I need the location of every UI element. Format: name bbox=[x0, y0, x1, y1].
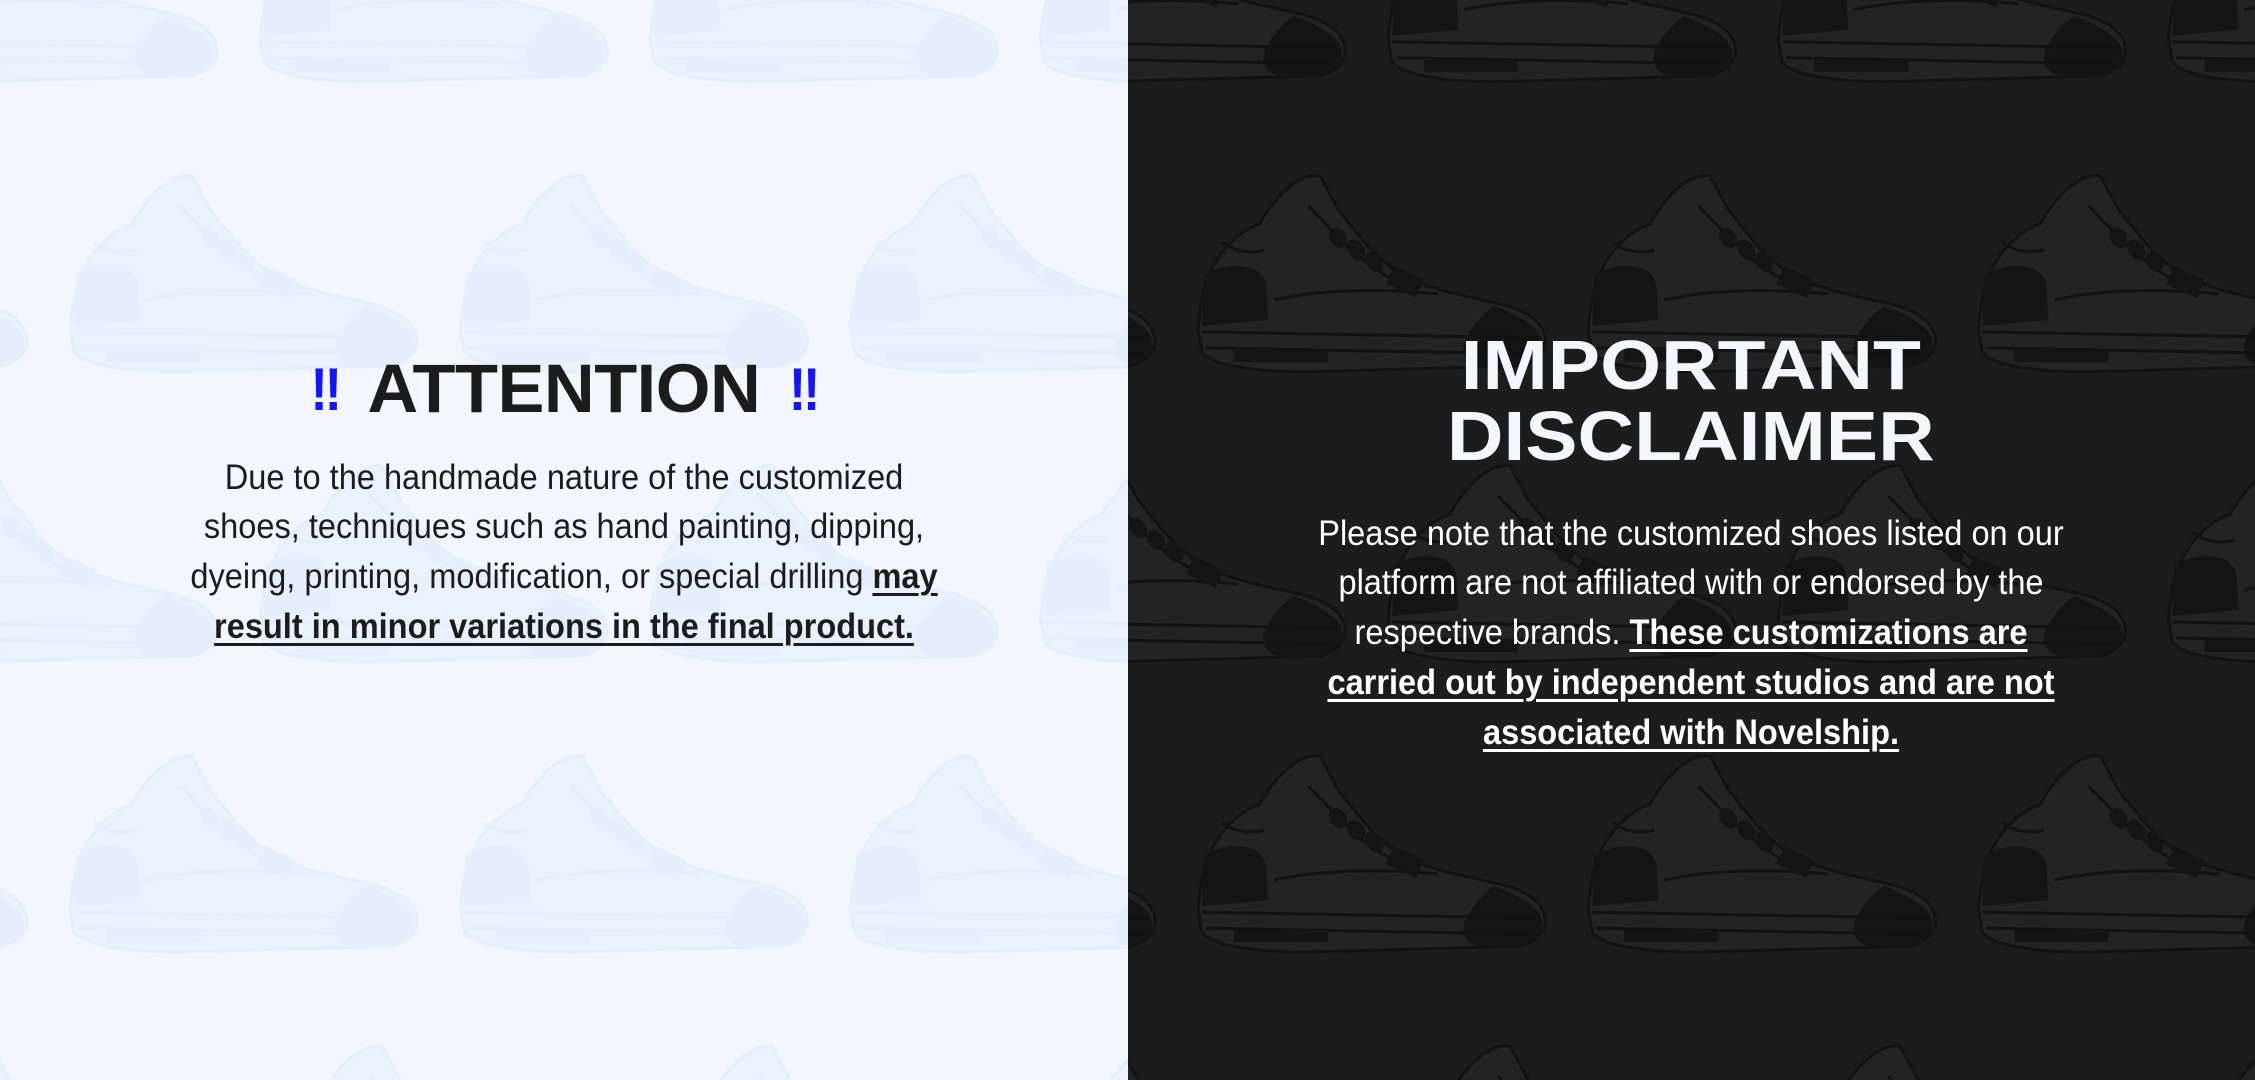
disclaimer-headline-line2: DISCLAIMER bbox=[1447, 401, 1935, 472]
disclaimer-panel: IMPORTANT DISCLAIMER Please note that th… bbox=[1128, 0, 2255, 1080]
attention-body-normal: Due to the handmade nature of the custom… bbox=[190, 458, 924, 596]
disclaimer-headline-line1: IMPORTANT bbox=[1447, 330, 1935, 401]
disclaimer-headline: IMPORTANT DISCLAIMER bbox=[1447, 330, 1935, 473]
double-exclamation-icon-left: ‼ bbox=[310, 361, 338, 420]
attention-headline: ‼ATTENTION‼ bbox=[308, 355, 820, 423]
attention-body: Due to the handmade nature of the custom… bbox=[182, 453, 945, 652]
disclaimer-body: Please note that the customized shoes li… bbox=[1305, 509, 2077, 757]
attention-headline-text: ATTENTION bbox=[367, 350, 760, 427]
double-exclamation-icon-right: ‼ bbox=[789, 361, 817, 420]
attention-panel: ‼ATTENTION‼ Due to the handmade nature o… bbox=[0, 0, 1128, 1080]
